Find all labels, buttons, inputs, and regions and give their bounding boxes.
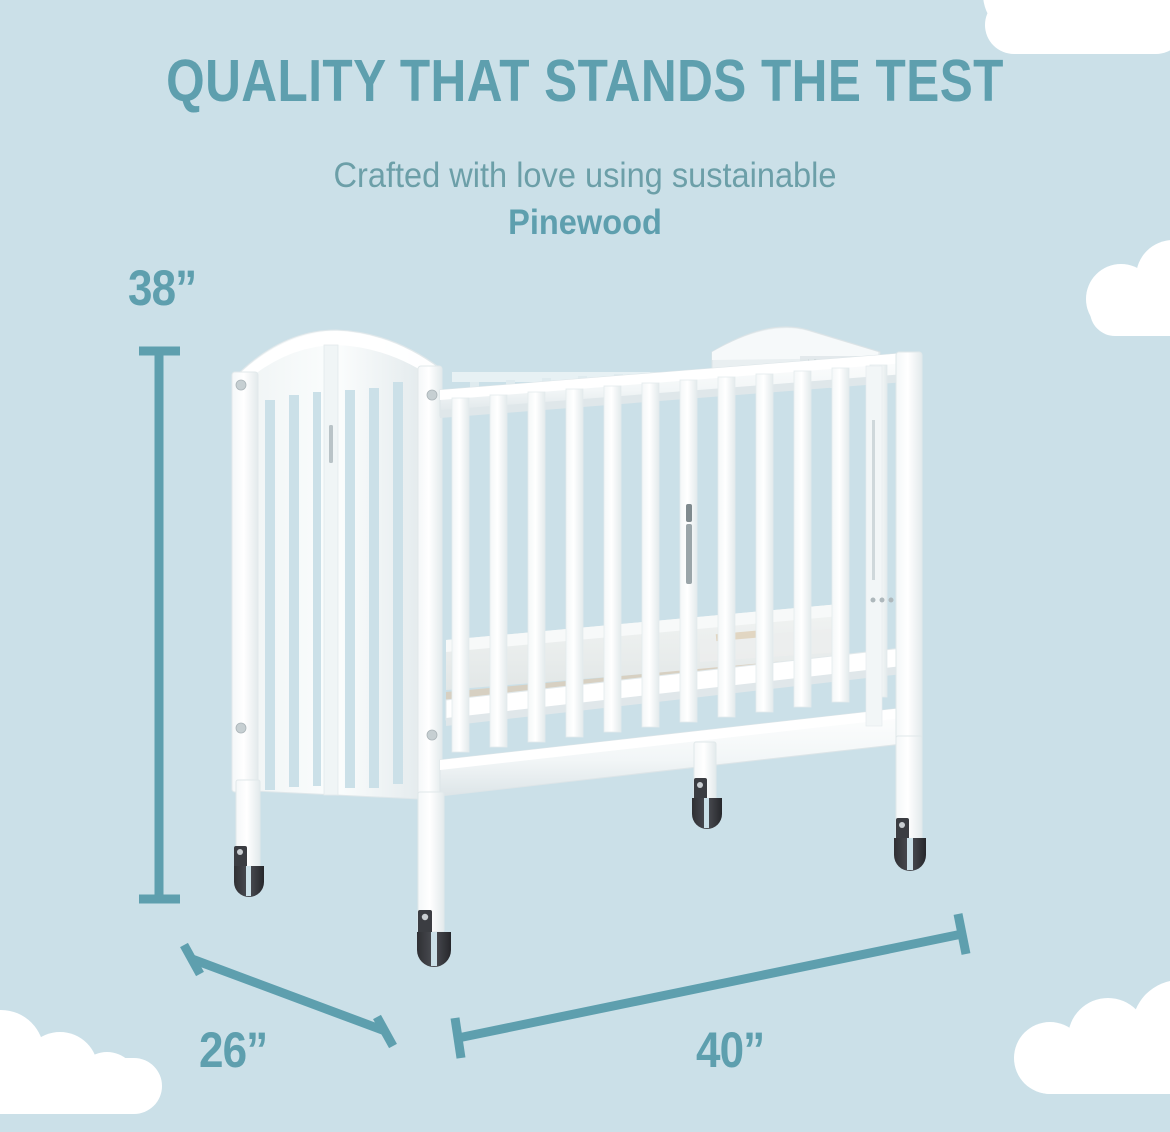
infographic-canvas: QUALITY THAT STANDS THE TEST Crafted wit… [0, 0, 1170, 1132]
crib-latch [686, 524, 692, 584]
height-dimension-label: 38” [128, 263, 196, 313]
crib-casters [234, 778, 926, 967]
crib-illustration: ⚠ CAUTION: READ ALL INSTRUCTIONS [0, 0, 1170, 1132]
crib-front-headboard [232, 330, 442, 802]
depth-dimension-label: 26” [199, 1025, 267, 1075]
width-dimension-label: 40” [696, 1025, 764, 1075]
caster [692, 778, 722, 829]
